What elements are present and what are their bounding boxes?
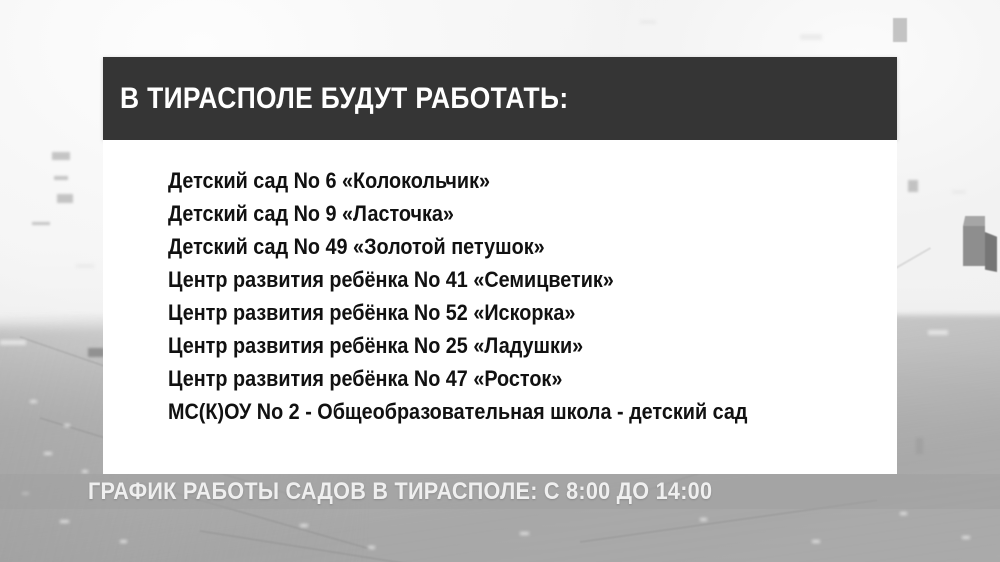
list-item: Детский сад No 6 «Колокольчик» <box>168 164 824 197</box>
list-item: Центр развития ребёнка No 25 «Ладушки» <box>168 329 824 362</box>
ticker-text: ГРАФИК РАБОТЫ САДОВ В ТИРАСПОЛЕ: С 8:00 … <box>88 478 712 506</box>
card-body: Детский сад No 6 «Колокольчик» Детский с… <box>103 140 897 474</box>
list-item: Центр развития ребёнка No 41 «Семицветик… <box>168 263 824 296</box>
broadcast-lower-third-slide: В ТИРАСПОЛЕ БУДУТ РАБОТАТЬ: Детский сад … <box>0 0 1000 562</box>
info-card: В ТИРАСПОЛЕ БУДУТ РАБОТАТЬ: Детский сад … <box>103 57 897 474</box>
list-item: Детский сад No 49 «Золотой петушок» <box>168 230 824 263</box>
list-item: Центр развития ребёнка No 47 «Росток» <box>168 362 824 395</box>
ticker-bar: ГРАФИК РАБОТЫ САДОВ В ТИРАСПОЛЕ: С 8:00 … <box>0 474 1000 509</box>
kindergarten-list: Детский сад No 6 «Колокольчик» Детский с… <box>103 164 897 428</box>
card-header: В ТИРАСПОЛЕ БУДУТ РАБОТАТЬ: <box>103 57 897 140</box>
list-item: Центр развития ребёнка No 52 «Искорка» <box>168 296 824 329</box>
card-title: В ТИРАСПОЛЕ БУДУТ РАБОТАТЬ: <box>120 82 568 116</box>
list-item: МС(К)ОУ No 2 - Общеобразовательная школа… <box>168 395 824 428</box>
list-item: Детский сад No 9 «Ласточка» <box>168 197 824 230</box>
background-3d-box <box>963 226 985 266</box>
background-3d-box-small <box>893 18 907 42</box>
